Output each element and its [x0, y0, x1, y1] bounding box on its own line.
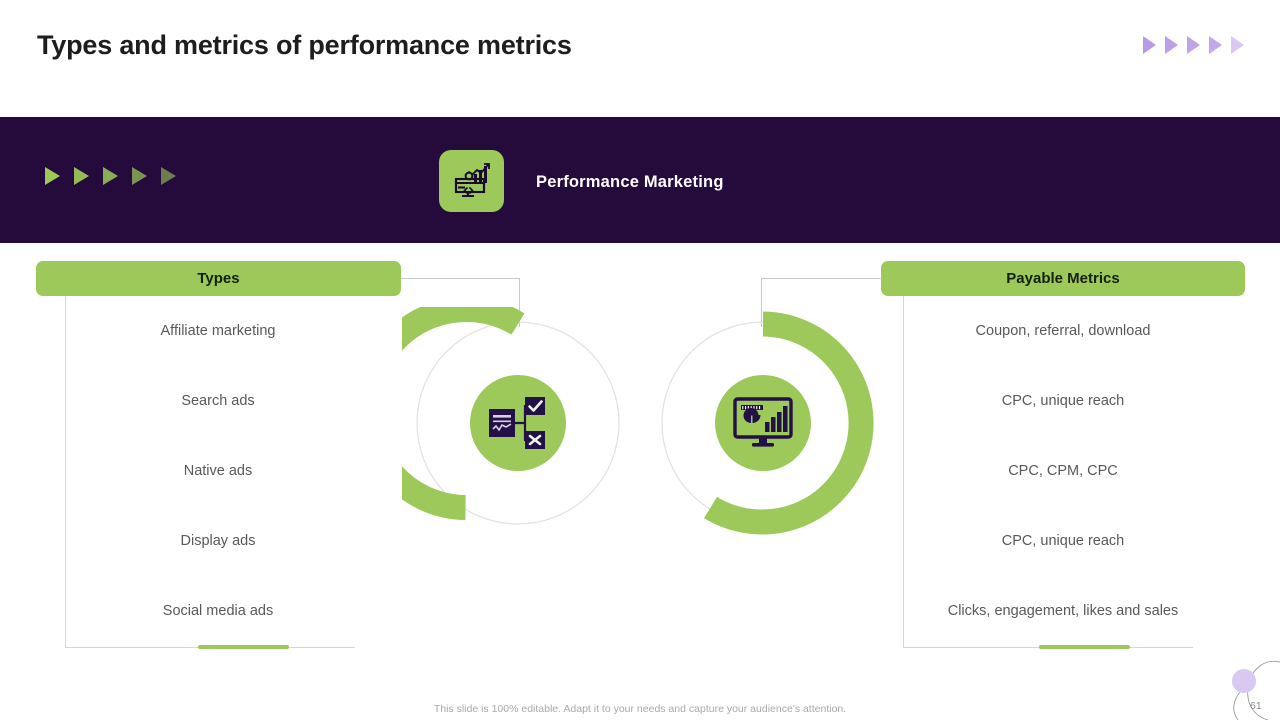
page-number: 61	[1250, 700, 1262, 712]
banner-arrow-5-icon	[161, 167, 176, 185]
column-header-payable-metrics[interactable]: Payable Metrics	[881, 261, 1245, 296]
connector-right-horizontal	[761, 278, 882, 279]
list-item: Clicks, engagement, likes and sales	[948, 603, 1179, 619]
banner-arrow-3-icon	[103, 167, 118, 185]
page-title: Types and metrics of performance metrics	[37, 30, 572, 61]
list-item: CPC, unique reach	[1002, 533, 1125, 549]
list-item: Social media ads	[163, 603, 273, 619]
title-arrow-3-icon	[1187, 36, 1200, 54]
right-column-list: Coupon, referral, download CPC, unique r…	[898, 296, 1228, 646]
editable-note: This slide is 100% editable. Adapt it to…	[0, 703, 1280, 715]
page-number-dot	[1232, 669, 1256, 693]
list-item: Search ads	[181, 393, 254, 409]
list-item: CPC, unique reach	[1002, 393, 1125, 409]
analytics-monitor-icon	[715, 375, 811, 471]
column-header-types[interactable]: Types	[36, 261, 401, 296]
connector-left-horizontal	[401, 278, 520, 279]
list-item: Native ads	[184, 463, 253, 479]
left-column-list: Affiliate marketing Search ads Native ad…	[53, 296, 383, 646]
list-item: Coupon, referral, download	[976, 323, 1151, 339]
banner-label: Performance Marketing	[536, 173, 724, 192]
banner-arrow-2-icon	[74, 167, 89, 185]
decision-checklist-icon	[470, 375, 566, 471]
title-arrow-group	[1143, 36, 1244, 54]
title-arrow-4-icon	[1209, 36, 1222, 54]
performance-dashboard-icon	[439, 150, 504, 212]
title-arrow-5-icon	[1231, 36, 1244, 54]
title-arrow-1-icon	[1143, 36, 1156, 54]
banner-arrow-4-icon	[132, 167, 147, 185]
list-item: Display ads	[181, 533, 256, 549]
title-arrow-2-icon	[1165, 36, 1178, 54]
list-item: Affiliate marketing	[161, 323, 276, 339]
column-header-types-label: Types	[197, 270, 239, 287]
column-header-payable-metrics-label: Payable Metrics	[1006, 270, 1119, 287]
list-item: CPC, CPM, CPC	[1008, 463, 1118, 479]
banner-arrow-group	[45, 167, 176, 185]
banner-arrow-1-icon	[45, 167, 60, 185]
